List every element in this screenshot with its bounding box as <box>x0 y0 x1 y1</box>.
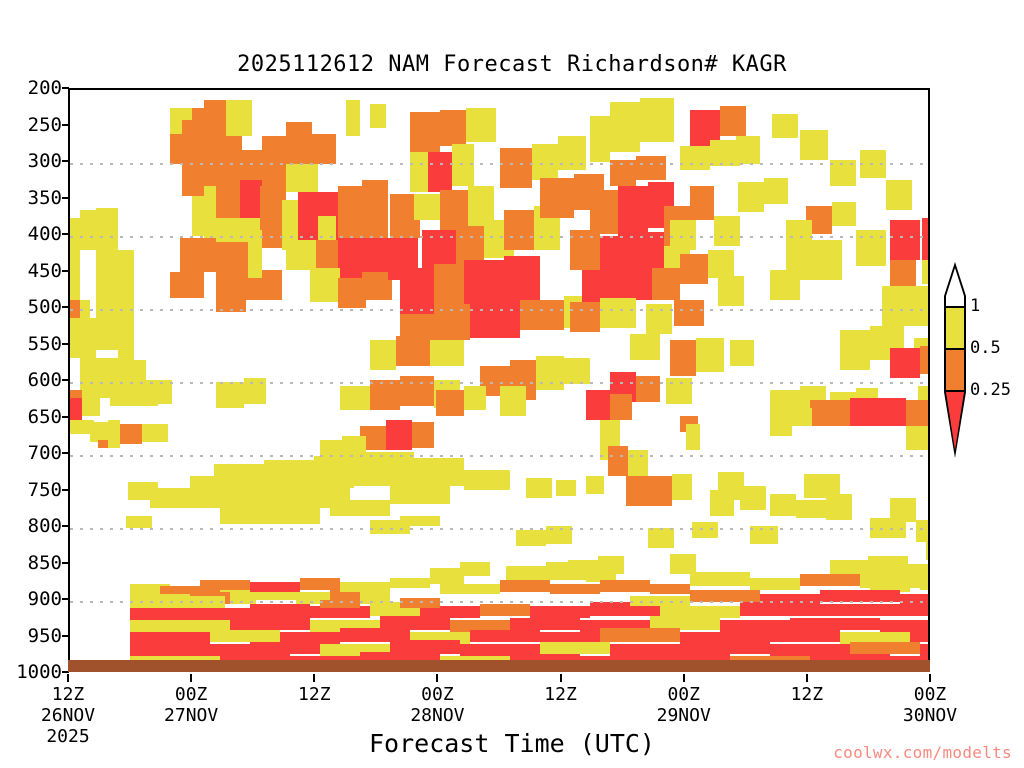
y-axis-tick-label: 650 <box>28 406 62 428</box>
colorbar-label: 1 <box>970 296 980 316</box>
x-axis-tick-mark <box>436 674 438 682</box>
colorbar-segment <box>944 348 966 390</box>
colorbar-segment <box>944 296 966 306</box>
plot-area <box>68 88 930 672</box>
y-axis-tick-label: 900 <box>28 588 62 610</box>
colorbar-label: 0.5 <box>970 338 1001 358</box>
gridline <box>70 309 928 311</box>
y-axis-tick-label: 250 <box>28 114 62 136</box>
y-axis-tick-label: 550 <box>28 333 62 355</box>
x-tick-time: 12Z <box>298 684 331 705</box>
gridline <box>70 601 928 603</box>
y-axis-tick-label: 300 <box>28 150 62 172</box>
colorbar: 10.50.25 <box>944 296 966 468</box>
y-axis-tick-label: 500 <box>28 296 62 318</box>
x-tick-date: 26NOV <box>41 705 95 726</box>
y-axis-tick-label: 800 <box>28 515 62 537</box>
y-axis-tick-label: 850 <box>28 552 62 574</box>
x-axis-tick-label: 00Z27NOV <box>164 684 218 726</box>
y-axis-tick-label: 600 <box>28 369 62 391</box>
x-tick-date: 29NOV <box>657 705 711 726</box>
y-axis-tick-label: 950 <box>28 625 62 647</box>
y-axis-labels: 2002503003504004505005506006507007508008… <box>0 88 62 672</box>
gridline <box>70 528 928 530</box>
x-tick-time: 00Z <box>164 684 218 705</box>
x-tick-time: 00Z <box>410 684 464 705</box>
y-axis-tick-label: 350 <box>28 187 62 209</box>
gridline <box>70 455 928 457</box>
gridlines <box>70 90 928 670</box>
x-tick-date: 30NOV <box>903 705 957 726</box>
x-tick-date: 28NOV <box>410 705 464 726</box>
x-axis-tick-mark <box>683 674 685 682</box>
x-tick-time: 12Z <box>791 684 824 705</box>
x-tick-date: 27NOV <box>164 705 218 726</box>
y-axis-tick-label: 700 <box>28 442 62 464</box>
x-axis-tick-label: 00Z28NOV <box>410 684 464 726</box>
x-tick-time: 12Z <box>544 684 577 705</box>
terrain-band <box>68 660 930 672</box>
x-axis-tick-mark <box>929 674 931 682</box>
chart-title: 2025112612 NAM Forecast Richardson# KAGR <box>0 52 1024 77</box>
watermark: coolwx.com/modelts <box>833 743 1012 762</box>
gridline <box>70 382 928 384</box>
x-axis-tick-mark <box>806 674 808 682</box>
x-axis-tick-mark <box>560 674 562 682</box>
y-axis-tick-label: 750 <box>28 479 62 501</box>
x-axis-tick-mark <box>190 674 192 682</box>
x-axis-tick-mark <box>67 674 69 682</box>
x-tick-time: 00Z <box>903 684 957 705</box>
y-axis-tick-label: 400 <box>28 223 62 245</box>
y-axis-tick-label: 200 <box>28 77 62 99</box>
x-axis-tick-label: 00Z30NOV <box>903 684 957 726</box>
x-axis-tick-label: 12Z <box>544 684 577 705</box>
x-axis-tick-mark <box>313 674 315 682</box>
colorbar-label: 0.25 <box>970 380 1011 400</box>
colorbar-arrow-low-fill <box>946 392 964 450</box>
x-tick-time: 00Z <box>657 684 711 705</box>
colorbar-segment <box>944 306 966 348</box>
gridline <box>70 236 928 238</box>
x-axis-tick-label: 12Z <box>298 684 331 705</box>
y-axis-tick-label: 450 <box>28 260 62 282</box>
x-axis-tick-label: 12Z <box>791 684 824 705</box>
x-tick-time: 12Z <box>41 684 95 705</box>
gridline <box>70 163 928 165</box>
chart-page: 2025112612 NAM Forecast Richardson# KAGR… <box>0 0 1024 768</box>
x-axis-tick-label: 00Z29NOV <box>657 684 711 726</box>
colorbar-arrow-high-fill <box>946 268 964 296</box>
